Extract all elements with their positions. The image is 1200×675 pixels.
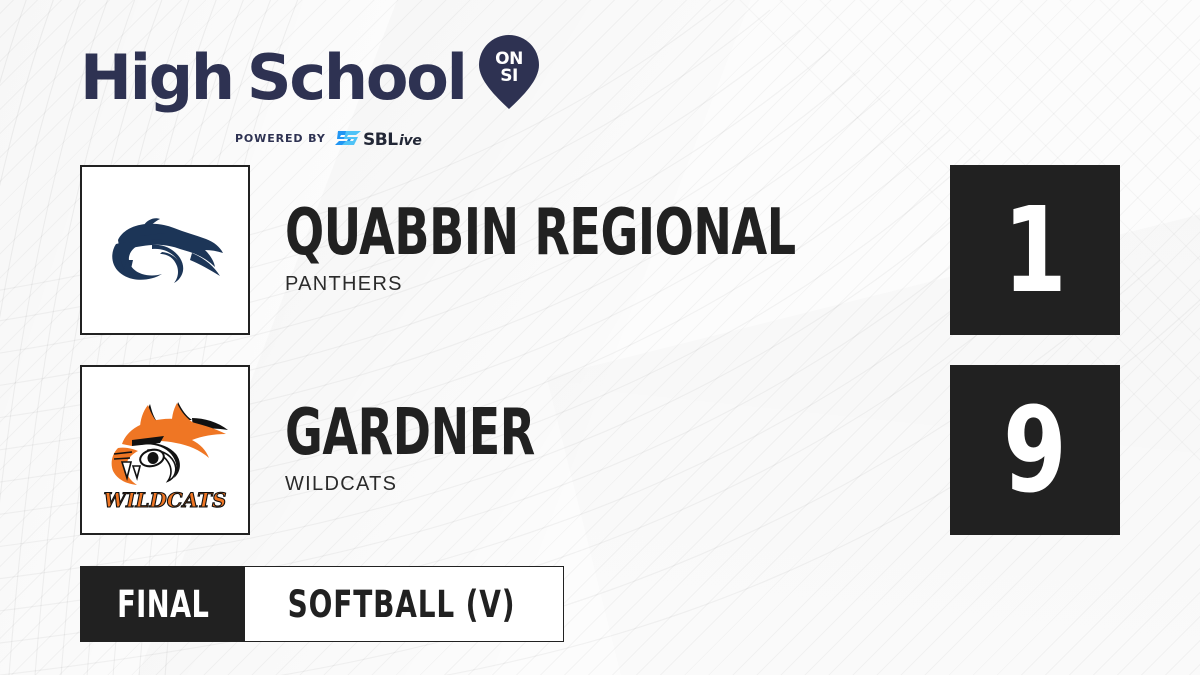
- team-info: GARDNER WILDCATS: [285, 365, 597, 535]
- wildcat-head-icon: WILDCATS: [92, 388, 238, 512]
- team-logo-card: [80, 165, 250, 335]
- wordmark-school: School: [247, 47, 466, 109]
- svg-text:ive: ive: [399, 133, 422, 149]
- team-name: QUABBIN REGIONAL: [285, 204, 796, 263]
- sblive-logo-icon: SBL ive: [335, 127, 433, 149]
- team-mascot: PANTHERS: [285, 273, 923, 296]
- brand-header: High School ON SI POWERED BY SBL ive: [80, 36, 540, 149]
- team-score: 1: [1003, 191, 1067, 309]
- svg-text:SI: SI: [500, 66, 518, 86]
- team-name: GARDNER: [285, 404, 535, 463]
- team-info: QUABBIN REGIONAL PANTHERS: [285, 165, 923, 335]
- sport-label: SOFTBALL (V): [288, 583, 516, 626]
- svg-text:SBL: SBL: [363, 130, 398, 149]
- high-school-wordmark: High School ON SI: [80, 36, 540, 120]
- status-badge: FINAL: [81, 567, 245, 641]
- powered-by-label: POWERED BY: [235, 132, 326, 145]
- team-score: 9: [1003, 391, 1067, 509]
- panther-head-icon: [100, 200, 230, 300]
- on-si-pin-icon: ON SI: [478, 34, 540, 120]
- powered-by-row: POWERED BY SBL ive: [128, 127, 540, 149]
- team-mascot: WILDCATS: [285, 473, 597, 496]
- team-score-box: 1: [950, 165, 1120, 335]
- wildcats-logo-wordmark: WILDCATS: [104, 488, 227, 512]
- status-badge-label: FINAL: [117, 583, 209, 626]
- game-status-banner: FINAL SOFTBALL (V): [80, 566, 564, 642]
- wordmark-high: High: [80, 47, 233, 109]
- team-score-box: 9: [950, 365, 1120, 535]
- team-logo-card: WILDCATS: [80, 365, 250, 535]
- sport-label-container: SOFTBALL (V): [245, 567, 562, 641]
